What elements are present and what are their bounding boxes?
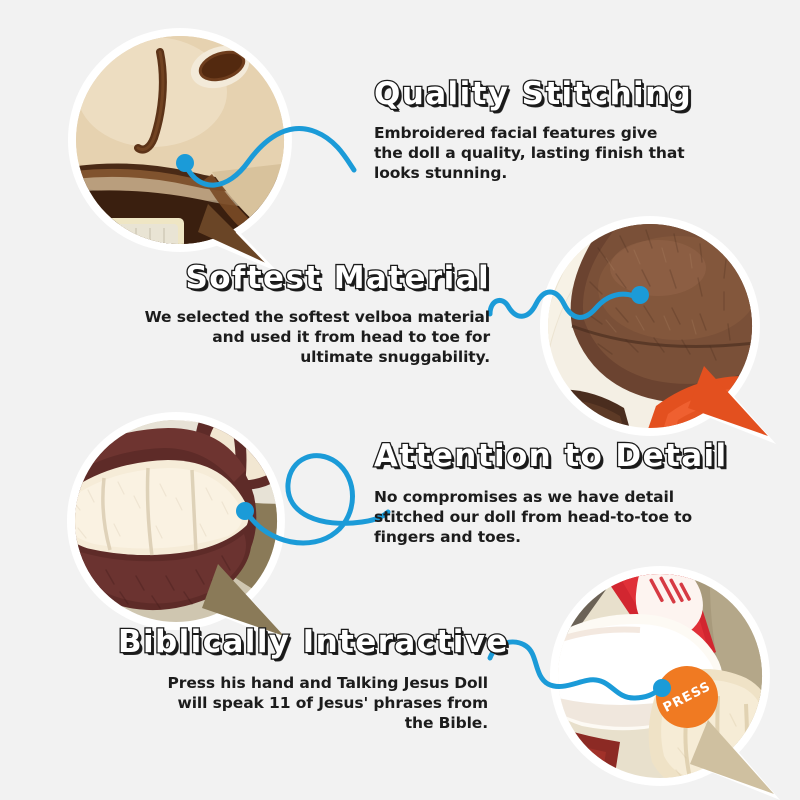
body-line: ultimate snuggability. [110, 347, 490, 367]
feature-body-quality-stitching: Embroidered facial features give the dol… [374, 123, 694, 184]
feature-photo-bubble-attention-to-detail [56, 404, 300, 646]
doll-foot-detail-photo [56, 404, 300, 646]
body-line: We selected the softest velboa material [110, 307, 490, 327]
body-line: Press his hand and Talking Jesus Doll [118, 673, 488, 693]
press-badge-label: PRESS [661, 679, 714, 716]
feature-photo-bubble-softest-material [528, 208, 778, 446]
body-line: looks stunning. [374, 163, 694, 183]
feature-body-attention-to-detail: No compromises as we have detail stitche… [374, 487, 704, 548]
feature-heading-attention-to-detail: Attention to Detail [374, 440, 704, 473]
body-line: stitched our doll from head-to-toe to [374, 507, 704, 527]
feature-body-softest-material: We selected the softest velboa material … [110, 307, 490, 368]
doll-face-stitching-photo [62, 22, 298, 272]
feature-text-biblically-interactive: Biblically Interactive Press his hand an… [118, 626, 488, 734]
body-line: the doll a quality, lasting finish that [374, 143, 694, 163]
feature-heading-biblically-interactive: Biblically Interactive [118, 626, 488, 659]
feature-heading-softest-material: Softest Material [110, 262, 490, 295]
feature-heading-quality-stitching: Quality Stitching [374, 78, 694, 111]
body-line: will speak 11 of Jesus' phrases from [118, 693, 488, 713]
feature-photo-bubble-biblically-interactive: PRESS [540, 556, 790, 800]
velboa-fabric-photo [528, 208, 778, 446]
feature-text-quality-stitching: Quality Stitching Embroidered facial fea… [374, 78, 694, 184]
body-line: the Bible. [118, 713, 488, 733]
body-line: and used it from head to toe for [110, 327, 490, 347]
body-line: No compromises as we have detail [374, 487, 704, 507]
body-line: fingers and toes. [374, 527, 704, 547]
feature-photo-bubble-quality-stitching [62, 22, 298, 272]
feature-text-softest-material: Softest Material We selected the softest… [110, 262, 490, 368]
body-line: Embroidered facial features give [374, 123, 694, 143]
product-feature-infographic: Quality Stitching Embroidered facial fea… [0, 0, 800, 800]
feature-text-attention-to-detail: Attention to Detail No compromises as we… [374, 440, 704, 548]
feature-body-biblically-interactive: Press his hand and Talking Jesus Doll wi… [118, 673, 488, 734]
